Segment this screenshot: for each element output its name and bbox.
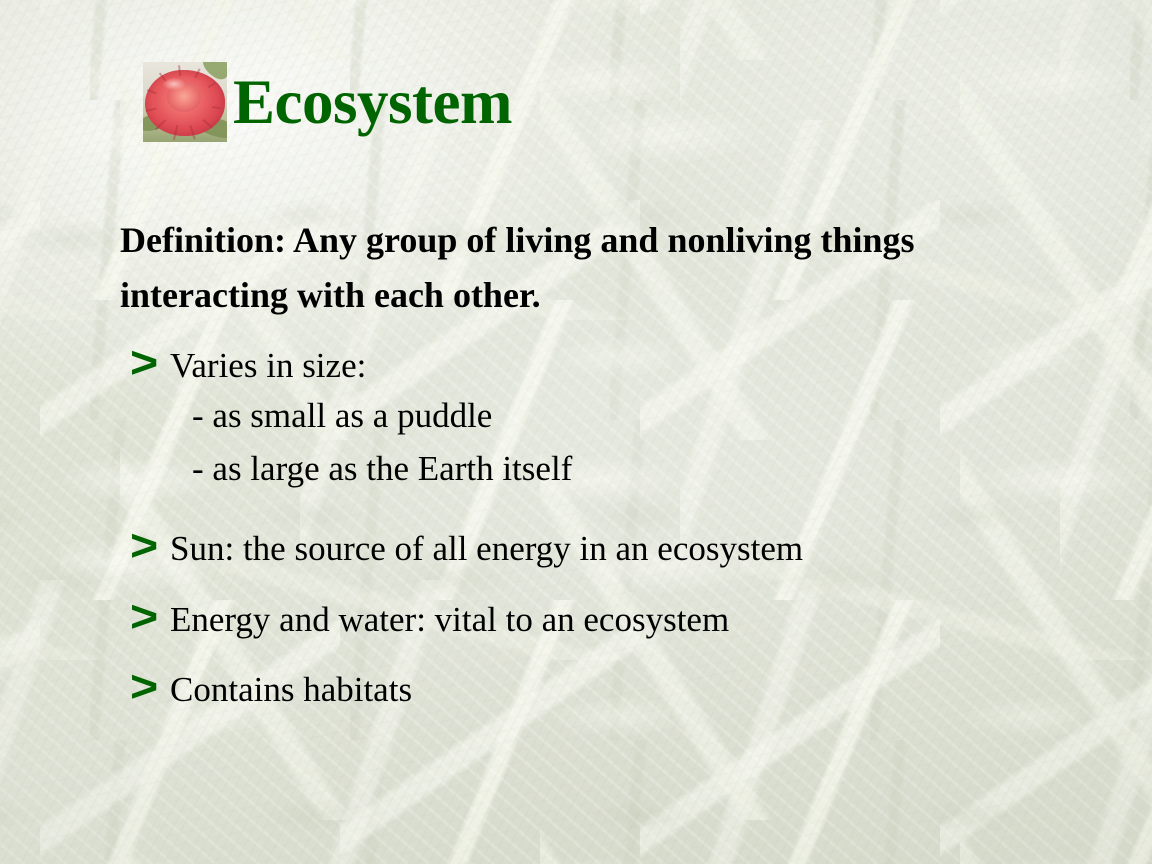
- spacer: [130, 574, 1130, 596]
- sub-list-item: - as large as the Earth itself: [192, 443, 1130, 496]
- chevron-right-icon: >: [130, 665, 176, 709]
- sub-list-item: - as small as a puddle: [192, 390, 1130, 443]
- spacer: [130, 495, 1130, 525]
- carnation-flower-image: [143, 62, 227, 142]
- list-item: > Contains habitats: [130, 666, 1130, 710]
- slide-title-row: Ecosystem: [143, 62, 512, 142]
- bullet-label: Contains habitats: [170, 669, 412, 710]
- bullet-label: Energy and water: vital to an ecosystem: [170, 599, 729, 640]
- bullet-label: Sun: the source of all energy in an ecos…: [170, 528, 803, 569]
- list-item: > Sun: the source of all energy in an ec…: [130, 525, 1130, 569]
- spacer: [130, 644, 1130, 666]
- sub-list: - as small as a puddle - as large as the…: [130, 390, 1130, 495]
- definition-text: Definition: Any group of living and nonl…: [120, 213, 1080, 322]
- slide-content: Ecosystem Definition: Any group of livin…: [0, 0, 1152, 864]
- presentation-slide: Ecosystem Definition: Any group of livin…: [0, 0, 1152, 864]
- chevron-right-icon: >: [130, 341, 176, 385]
- bullet-label: Varies in size:: [170, 345, 366, 386]
- list-item: > Varies in size:: [130, 342, 1130, 386]
- chevron-right-icon: >: [130, 524, 176, 568]
- list-item: > Energy and water: vital to an ecosyste…: [130, 596, 1130, 640]
- page-title: Ecosystem: [233, 71, 512, 134]
- chevron-right-icon: >: [130, 595, 176, 639]
- bullet-list: > Varies in size: - as small as a puddle…: [130, 342, 1130, 714]
